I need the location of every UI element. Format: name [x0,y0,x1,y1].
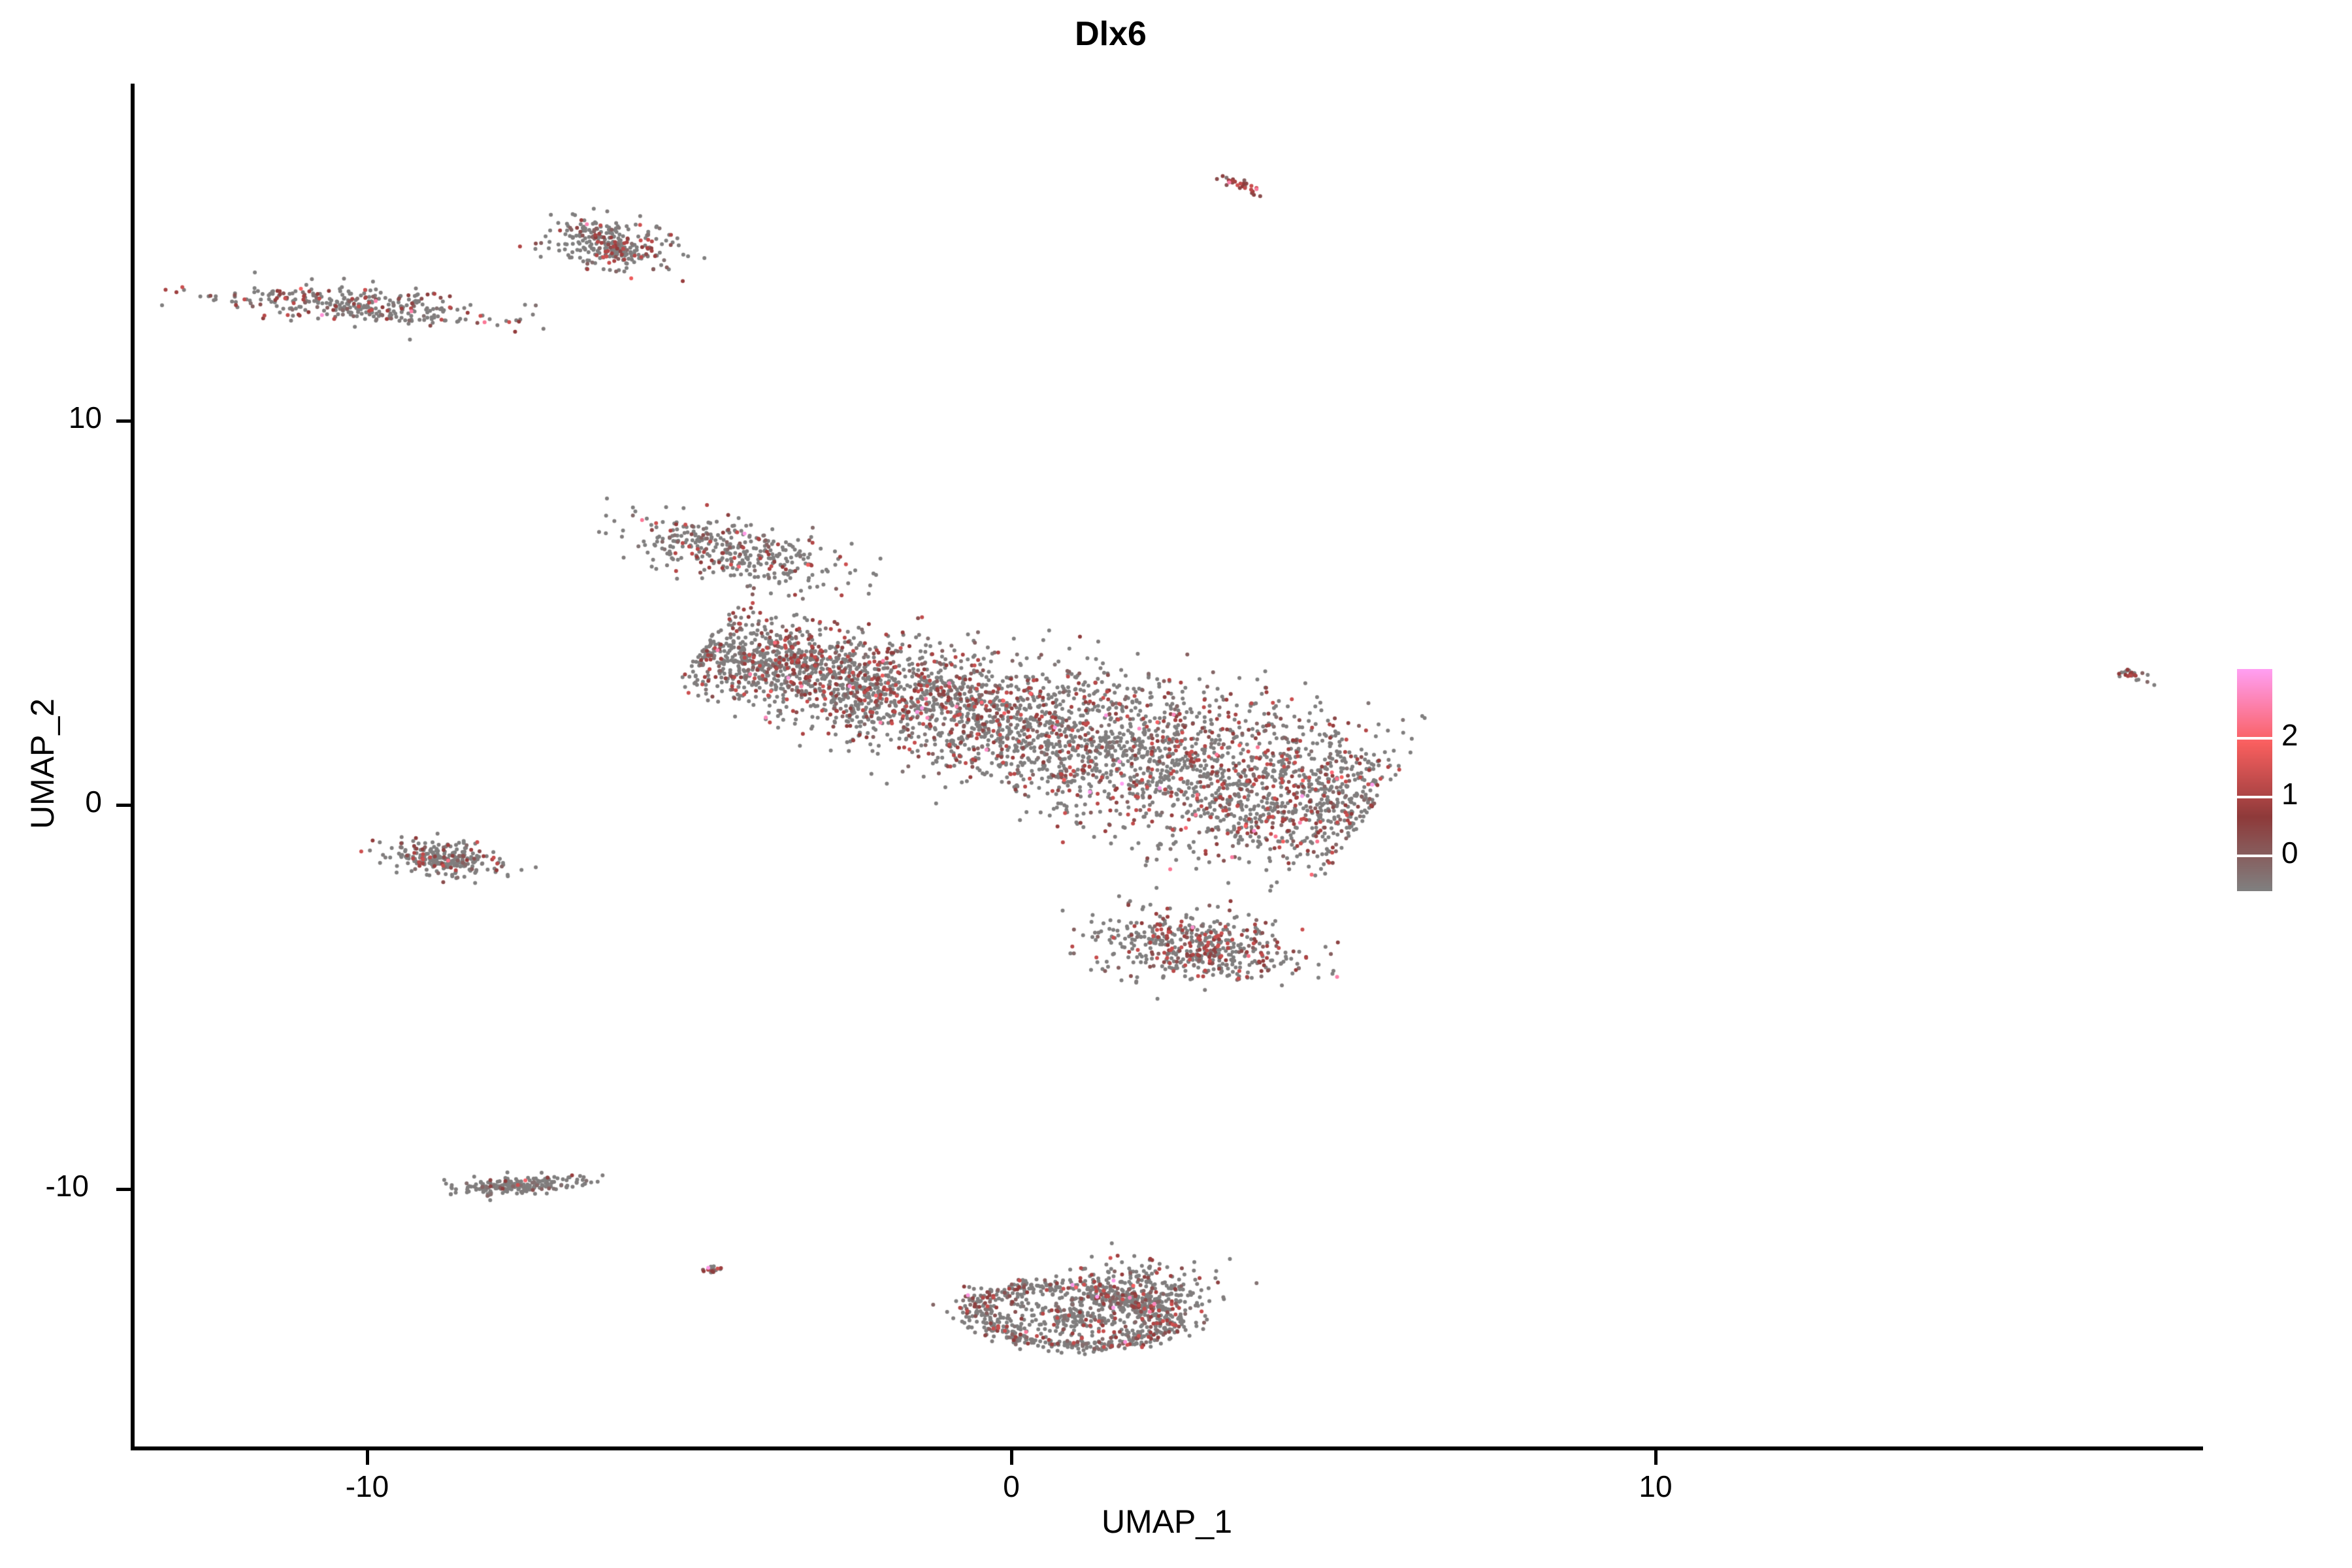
x-axis-title: UMAP_1 [131,1503,2203,1541]
y-tick-label-10: 10 [24,400,102,435]
y-axis-line [131,84,135,1450]
colorbar-gradient [2237,669,2272,891]
umap-feature-plot: Dlx6 10 0 -10 -10 0 10 UMAP_1 UMAP_2 2 1… [0,0,2352,1568]
x-tick-mark-10 [1654,1450,1658,1465]
y-tick-label-neg10: -10 [10,1168,89,1203]
plot-panel [131,85,2202,1450]
x-tick-label-neg10: -10 [315,1469,419,1504]
scatter-plot-canvas [131,85,2202,1450]
colorbar-tick-label-1: 1 [2281,779,2298,809]
x-tick-mark-neg10 [366,1450,369,1465]
x-axis-line [131,1446,2203,1450]
colorbar-tick-mark-2 [2237,737,2272,740]
y-tick-mark-10 [116,419,131,423]
colorbar-tick-mark-1 [2237,796,2272,798]
page-title: Dlx6 [0,14,2221,54]
x-tick-label-10: 10 [1603,1469,1708,1504]
colorbar-tick-label-0: 0 [2281,838,2298,868]
colorbar-tick-mark-0 [2237,855,2272,857]
y-tick-mark-0 [116,804,131,807]
y-tick-mark-neg10 [116,1188,131,1191]
y-axis-title: UMAP_2 [24,502,61,1025]
x-tick-mark-0 [1010,1450,1013,1465]
colorbar-legend: 2 1 0 [2237,669,2342,891]
x-tick-label-0: 0 [959,1469,1064,1504]
colorbar-tick-label-2: 2 [2281,720,2298,750]
